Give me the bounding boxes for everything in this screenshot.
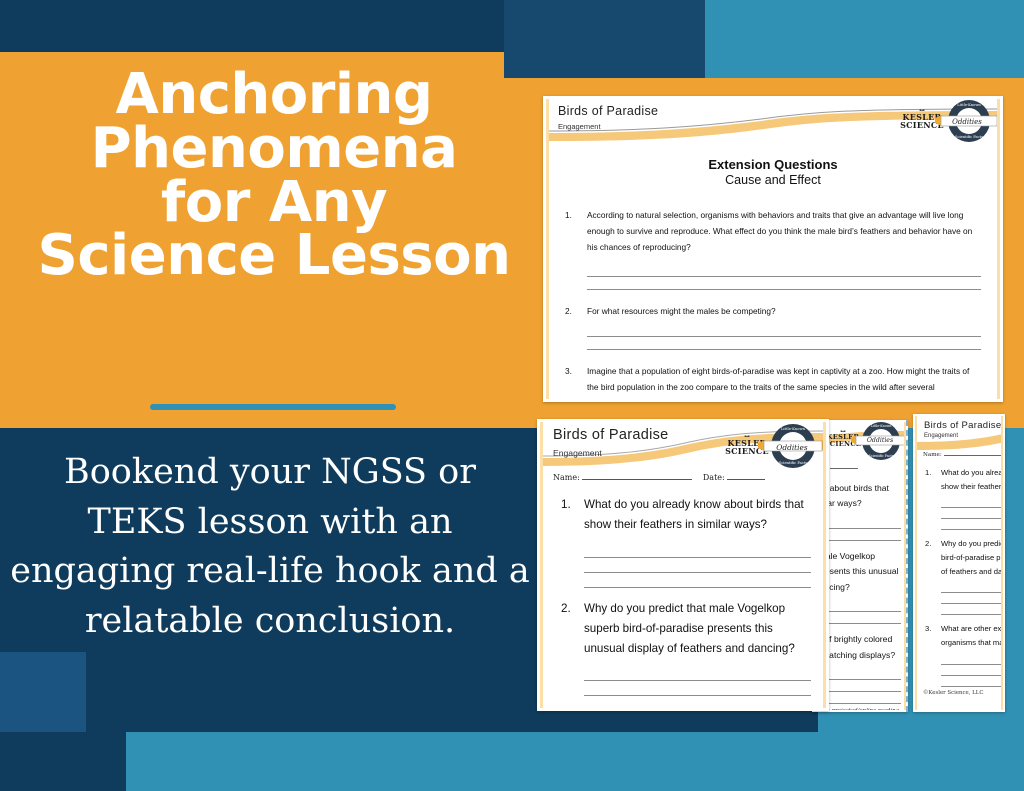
question-text: For what resources might the males be co… xyxy=(587,303,983,319)
worksheet-title: Birds of Paradise xyxy=(558,104,658,118)
badge-center-text: Oddities xyxy=(775,443,809,452)
worksheet-title: Birds of Paradise xyxy=(924,420,1001,431)
title-line-2: Phenomena xyxy=(14,122,534,176)
name-label: Name: xyxy=(923,452,942,458)
question-number: 1. xyxy=(561,495,571,515)
question-number: 1. xyxy=(565,207,572,223)
worksheet-header: Birds of Paradise Engagement xyxy=(917,416,1003,450)
worksheet-subtitle: Engagement xyxy=(553,448,602,458)
question-text: What are other examples of brightly colo… xyxy=(941,622,1003,649)
badge-top-text: Little-Known xyxy=(862,424,900,428)
title-line-3: for Any xyxy=(14,176,534,230)
worksheet-extension-questions[interactable]: Birds of Paradise Engagement •▪• KESLER … xyxy=(543,96,1003,402)
question-text: Why do you predict that male Vogelkop su… xyxy=(941,537,1003,578)
badge-center-text: Oddities xyxy=(952,118,982,126)
page-title: Anchoring Phenomena for Any Science Less… xyxy=(14,68,534,283)
title-divider-rule xyxy=(150,404,396,410)
badge-top-text: Little-Known xyxy=(948,103,990,107)
question-number: 3. xyxy=(925,622,931,636)
background-navy-bottom-left-corner xyxy=(0,732,126,791)
question-number: 2. xyxy=(925,537,931,551)
question-number: 2. xyxy=(561,599,571,619)
answer-lines[interactable] xyxy=(941,497,1003,530)
question-number: 2. xyxy=(565,303,572,319)
badge-bottom-text: Scientific Facts xyxy=(862,454,900,458)
name-row[interactable]: Name: xyxy=(923,452,1003,458)
worksheet-back-page[interactable]: Birds of Paradise Engagement Name: 1. Wh… xyxy=(913,414,1005,712)
answer-lines[interactable] xyxy=(941,654,1003,687)
answer-lines[interactable] xyxy=(587,265,981,290)
question-number: 1. xyxy=(925,466,931,480)
title-line-4: Science Lesson xyxy=(14,229,534,283)
date-label: Date: xyxy=(703,473,725,482)
question-text: What do you already know about birds tha… xyxy=(941,466,1003,493)
background-navy-accent-block xyxy=(504,0,705,78)
answer-lines[interactable] xyxy=(587,325,981,350)
worksheet-subtitle: Engagement xyxy=(558,122,601,131)
badge-bottom-text: Scientific Facts xyxy=(948,135,990,139)
question-text: What do you already know about birds tha… xyxy=(584,495,813,536)
badge-center-text: Oddities xyxy=(866,437,894,444)
answer-lines[interactable] xyxy=(584,543,811,588)
answer-lines[interactable] xyxy=(941,582,1003,615)
question-text: Why do you predict that male Vogelkop su… xyxy=(584,599,813,660)
answer-lines[interactable] xyxy=(584,666,811,696)
hero-subtitle: Bookend your NGSS or TEKS lesson with an… xyxy=(10,448,530,647)
worksheet-copyright: ©Kesler Science, LLC xyxy=(923,690,1003,696)
background-teal-top-right xyxy=(705,0,1024,78)
worksheet-title: Birds of Paradise xyxy=(553,427,669,443)
name-label: Name: xyxy=(553,473,580,482)
worksheet-heading: Extension Questions xyxy=(549,157,997,172)
worksheet-front-page[interactable]: Birds of Paradise Engagement •▪• KESLER … xyxy=(537,419,829,711)
question-number: 3. xyxy=(565,363,572,379)
cut-line-divider xyxy=(906,420,908,712)
question-text: According to natural selection, organism… xyxy=(587,207,983,256)
name-date-row[interactable]: Name: Date: xyxy=(553,473,811,482)
worksheet-header: Birds of Paradise Engagement •▪• KESLER … xyxy=(543,422,823,468)
worksheet-subheading: Cause and Effect xyxy=(549,173,997,187)
question-text: Imagine that a population of eight birds… xyxy=(587,363,983,399)
title-line-1: Anchoring xyxy=(14,68,534,122)
badge-bottom-text: Scientific Facts xyxy=(771,461,815,465)
badge-top-text: Little-Known xyxy=(771,427,815,431)
background-teal-bottom-band xyxy=(126,732,1024,791)
worksheet-header: Birds of Paradise Engagement •▪• KESLER … xyxy=(549,99,997,143)
worksheet-subtitle: Engagement xyxy=(924,433,958,439)
